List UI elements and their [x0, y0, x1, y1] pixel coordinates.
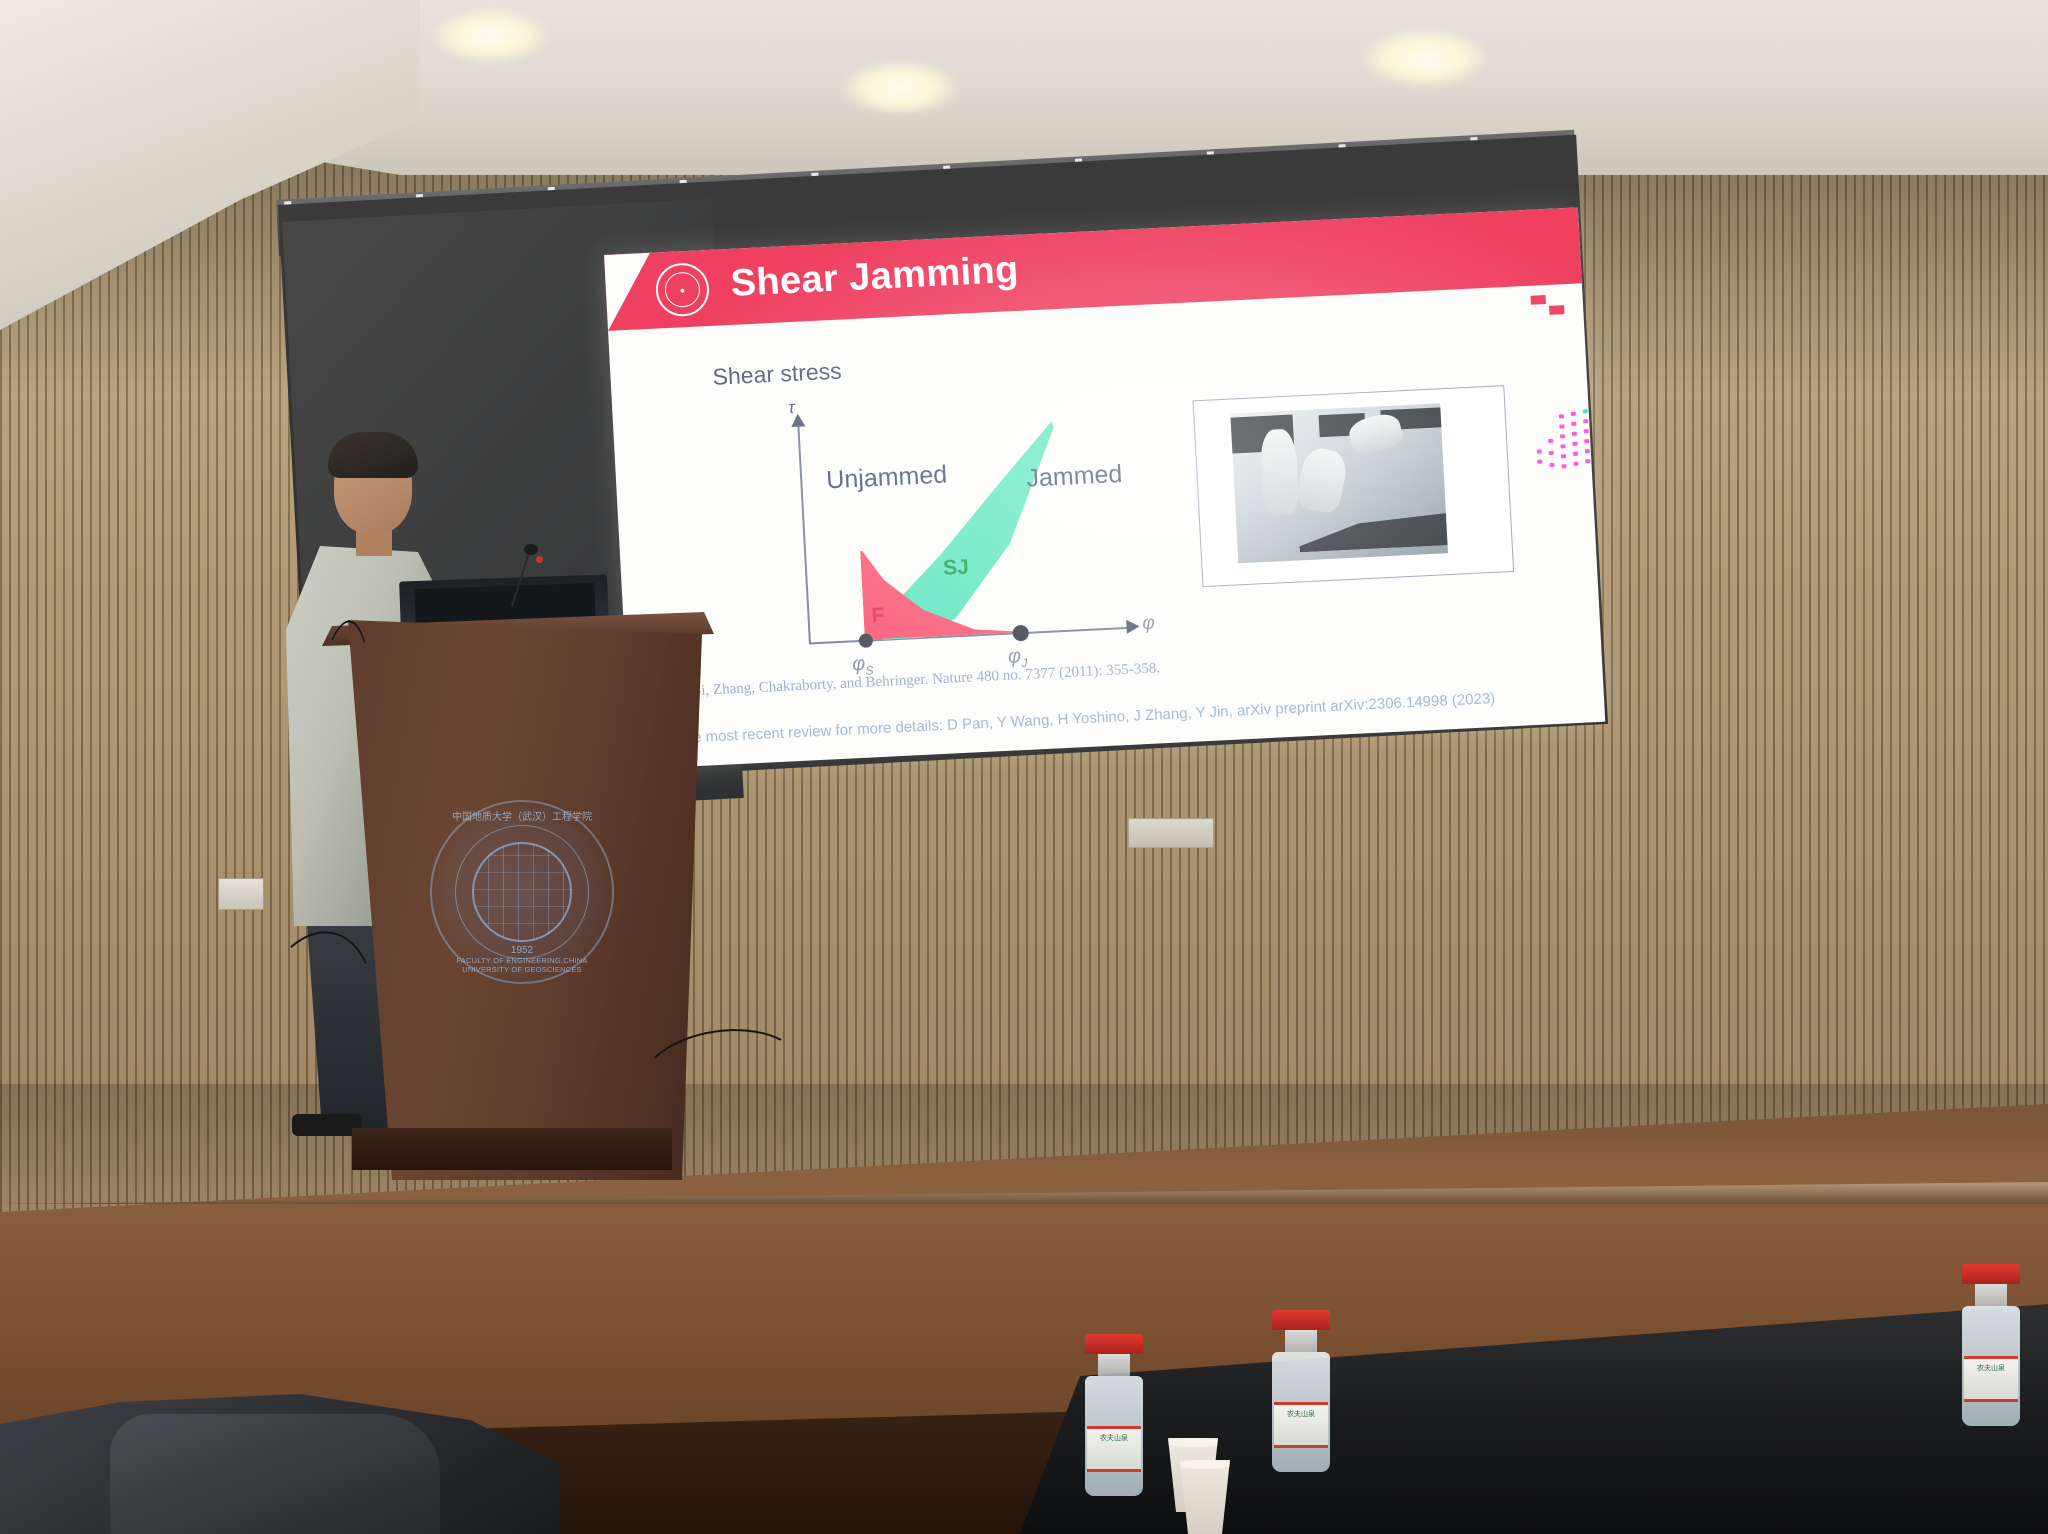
shear-jamming-phase-diagram: Shear stress τ φ Unjammed Jammed SJ F φS…: [720, 346, 1167, 687]
emblem-year: 1952: [511, 945, 533, 956]
annotation-f: F: [871, 604, 885, 629]
y-axis-line: [797, 422, 811, 644]
bottle-cap: [1962, 1264, 2020, 1284]
backpack-body: [110, 1414, 440, 1534]
bottle-neck: [1098, 1354, 1130, 1376]
water-bottle-2[interactable]: 农夫山泉: [1272, 1310, 1330, 1472]
wall-sign-plate: [1128, 818, 1214, 848]
bottle-label: 农夫山泉: [1964, 1356, 2018, 1402]
ceiling-light-1: [430, 8, 550, 64]
phi-s-symbol: φ: [852, 653, 866, 676]
microphone-head: [524, 544, 538, 555]
podium-emblem: 中国地质大学（武汉）工程学院 1952 FACULTY OF ENGINEERI…: [430, 800, 614, 984]
bottle-neck: [1285, 1330, 1317, 1352]
emblem-globe-icon: [472, 842, 572, 942]
slide-corner-mark: [1530, 294, 1567, 318]
oobleck-running-photo: [1230, 403, 1448, 563]
annotation-unjammed: Unjammed: [826, 461, 948, 496]
y-axis-arrowhead: [791, 413, 806, 427]
water-bottle-3[interactable]: 农夫山泉: [1962, 1264, 2020, 1426]
chart-caption: Shear stress: [712, 358, 842, 391]
bottle-label: 农夫山泉: [1274, 1402, 1328, 1448]
annotation-sj: SJ: [943, 556, 970, 581]
seal-inner: ●: [664, 271, 701, 308]
lecture-hall-scene: ● Shear Jamming Shear stress τ φ Unjamme…: [0, 0, 2048, 1534]
bottle-cap: [1272, 1310, 1330, 1330]
cup-rim: [1176, 1460, 1234, 1469]
presenter-hair: [328, 432, 418, 478]
marker-phi-j-dot: [1012, 625, 1029, 642]
water-bottle-1[interactable]: 农夫山泉: [1085, 1334, 1143, 1496]
x-axis-arrowhead: [1126, 619, 1140, 634]
phi-j-symbol: φ: [1007, 645, 1021, 668]
emblem-english-text: FACULTY OF ENGINEERING,CHINA UNIVERSITY …: [437, 956, 607, 974]
marker-phi-s-dot: [859, 633, 874, 648]
microphone-indicator: [536, 556, 543, 563]
podium-base: [352, 1128, 672, 1170]
bottle-neck: [1975, 1284, 2007, 1306]
bottle-cap: [1085, 1334, 1143, 1354]
ceiling-light-2: [840, 60, 960, 116]
emblem-chinese-text: 中国地质大学（武汉）工程学院: [452, 808, 592, 823]
bottle-label: 农夫山泉: [1087, 1426, 1141, 1472]
x-axis-label: φ: [1142, 613, 1156, 636]
oobleck-photo-frame: [1193, 385, 1515, 587]
annotation-jammed: Jammed: [1026, 460, 1123, 494]
cup-rim: [1164, 1438, 1222, 1447]
wall-outlet[interactable]: [218, 878, 264, 910]
projected-slide: ● Shear Jamming Shear stress τ φ Unjamme…: [604, 207, 1605, 769]
ceiling-light-3: [1360, 28, 1490, 88]
